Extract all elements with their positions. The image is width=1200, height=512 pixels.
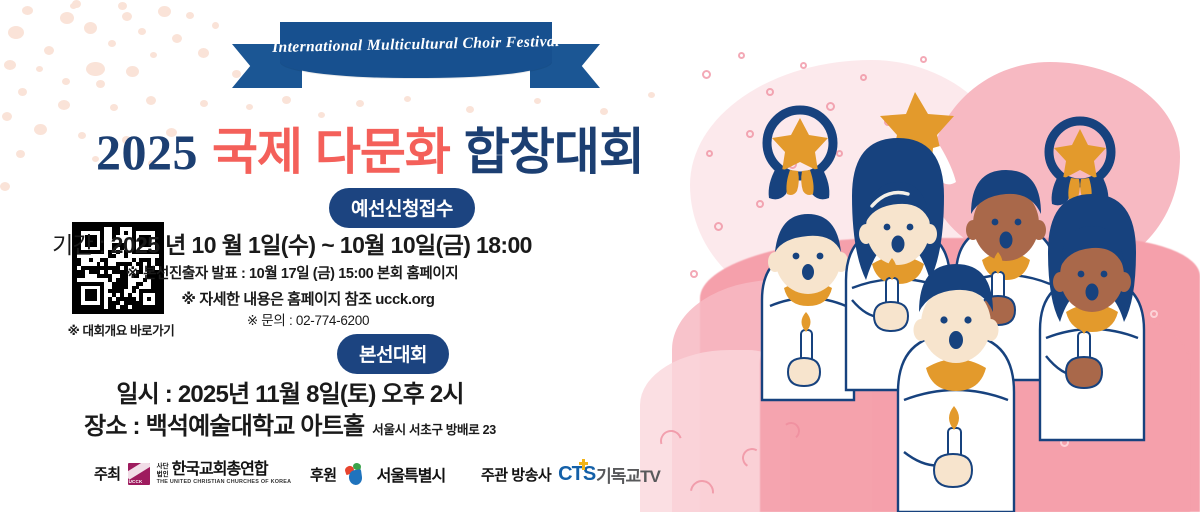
credit-host-label: 주최 <box>94 463 121 484</box>
singer-right-girl <box>1040 194 1144 440</box>
preliminary-period-label: 기간 : <box>52 232 111 258</box>
ucck-corp-prefix: 사단 법인 <box>157 463 169 478</box>
page-title: 2025 국제 다문화 합창대회 <box>96 112 644 184</box>
cts-logo: CTS 기독교TV <box>558 462 660 487</box>
seoul-city-logo-icon <box>344 463 370 485</box>
ucck-corp-line1: 사단 <box>157 463 169 470</box>
credit-broadcast: 주관 방송사 CTS 기독교TV <box>481 462 660 487</box>
ucck-english-name: THE UNITED CHRISTIAN CHURCHES OF KOREA <box>157 480 292 485</box>
credit-sponsor-label: 후원 <box>310 464 337 485</box>
cts-cross-icon <box>579 459 588 470</box>
preliminary-period-value: 2025 년 10 월 1일(수) ~ 10월 10일(금) 18:00 <box>111 232 532 258</box>
credit-host: 주최 사단 법인 한국교회총연합 THE UNITED CHRISTIAN CH… <box>94 462 291 485</box>
badge-main-competition: 본선대회 <box>337 334 449 374</box>
cts-korean-name: 기독교TV <box>596 462 660 487</box>
seoul-city-name: 서울특별시 <box>377 462 446 486</box>
main-event-venue-value: 백석예술대학교 아트홀 <box>146 413 365 440</box>
credit-broadcast-label: 주관 방송사 <box>481 464 551 485</box>
singer-back-left <box>762 214 854 400</box>
ucck-corp-line2: 법인 <box>157 471 169 478</box>
title-year: 2025 <box>96 123 198 181</box>
poster-canvas: International Multicultural Choir Festiv… <box>0 0 1200 512</box>
ucck-logo-icon <box>128 463 150 485</box>
choir-illustration <box>700 0 1200 512</box>
title-navy-part: 합창대회 <box>464 112 644 184</box>
badge-preliminary-application: 예선신청접수 <box>329 188 475 228</box>
main-event-datetime-value: 2025년 11월 8일(토) 오후 2시 <box>178 381 464 408</box>
ucck-name: 한국교회총연합 <box>172 462 268 478</box>
credit-sponsor: 후원 서울특별시 <box>310 462 445 486</box>
ucck-logo-text: 사단 법인 한국교회총연합 THE UNITED CHRISTIAN CHURC… <box>157 462 292 485</box>
main-event-venue-label: 장소 : <box>84 413 146 440</box>
ornament-star-left <box>767 110 833 199</box>
title-red-part: 국제 다문화 <box>212 112 450 184</box>
main-event-datetime-label: 일시 : <box>116 381 178 408</box>
footer-credits: 주최 사단 법인 한국교회총연합 THE UNITED CHRISTIAN CH… <box>0 458 700 498</box>
ornament-star-right <box>1049 121 1111 205</box>
main-event-venue-address: 서울시 서초구 방배로 23 <box>372 423 496 437</box>
cts-brand: CTS <box>558 463 595 486</box>
